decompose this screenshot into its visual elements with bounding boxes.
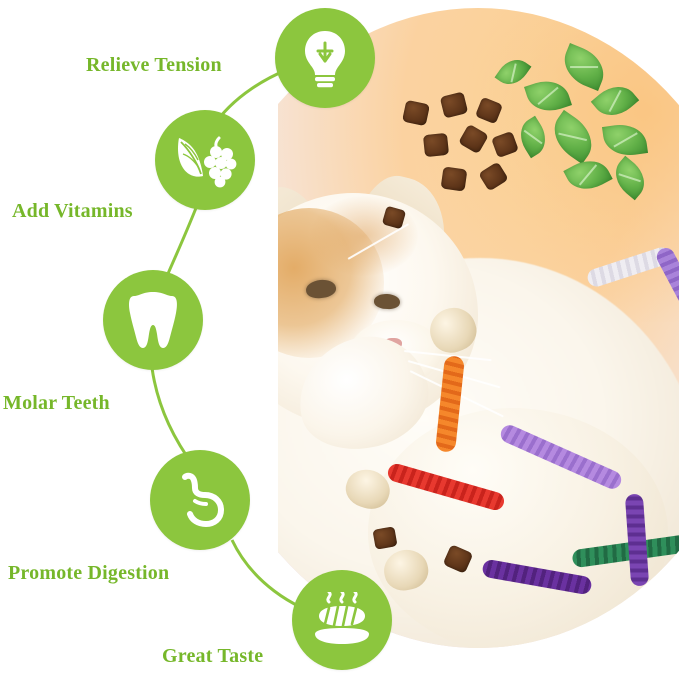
feature-label-relieve-tension: Relieve Tension	[86, 54, 222, 77]
treat-pellet	[402, 100, 430, 127]
feature-badge-promote-digestion[interactable]	[150, 450, 250, 550]
feature-label-promote-digestion: Promote Digestion	[8, 562, 169, 585]
feature-label-molar-teeth: Molar Teeth	[3, 392, 110, 415]
treat-pellet	[423, 133, 449, 157]
feature-badge-molar-teeth[interactable]	[103, 270, 203, 370]
treat-pellet	[372, 526, 397, 550]
infographic-canvas: Relieve Tension Add Vitamins Molar Teeth	[0, 0, 679, 678]
grapes-leaf-icon	[173, 130, 237, 190]
feature-badge-great-taste[interactable]	[292, 570, 392, 670]
stomach-icon	[171, 471, 229, 529]
treat-pellet	[441, 166, 468, 191]
cat-ginger-patch-secondary	[310, 196, 418, 276]
lightbulb-icon	[297, 27, 353, 89]
feature-badge-relieve-tension[interactable]	[275, 8, 375, 108]
cat-eye-right	[374, 293, 401, 309]
food-steam-icon	[311, 592, 373, 648]
tooth-icon	[127, 289, 179, 351]
feature-badge-add-vitamins[interactable]	[155, 110, 255, 210]
feature-label-add-vitamins: Add Vitamins	[12, 200, 133, 223]
feature-label-great-taste: Great Taste	[162, 645, 263, 668]
